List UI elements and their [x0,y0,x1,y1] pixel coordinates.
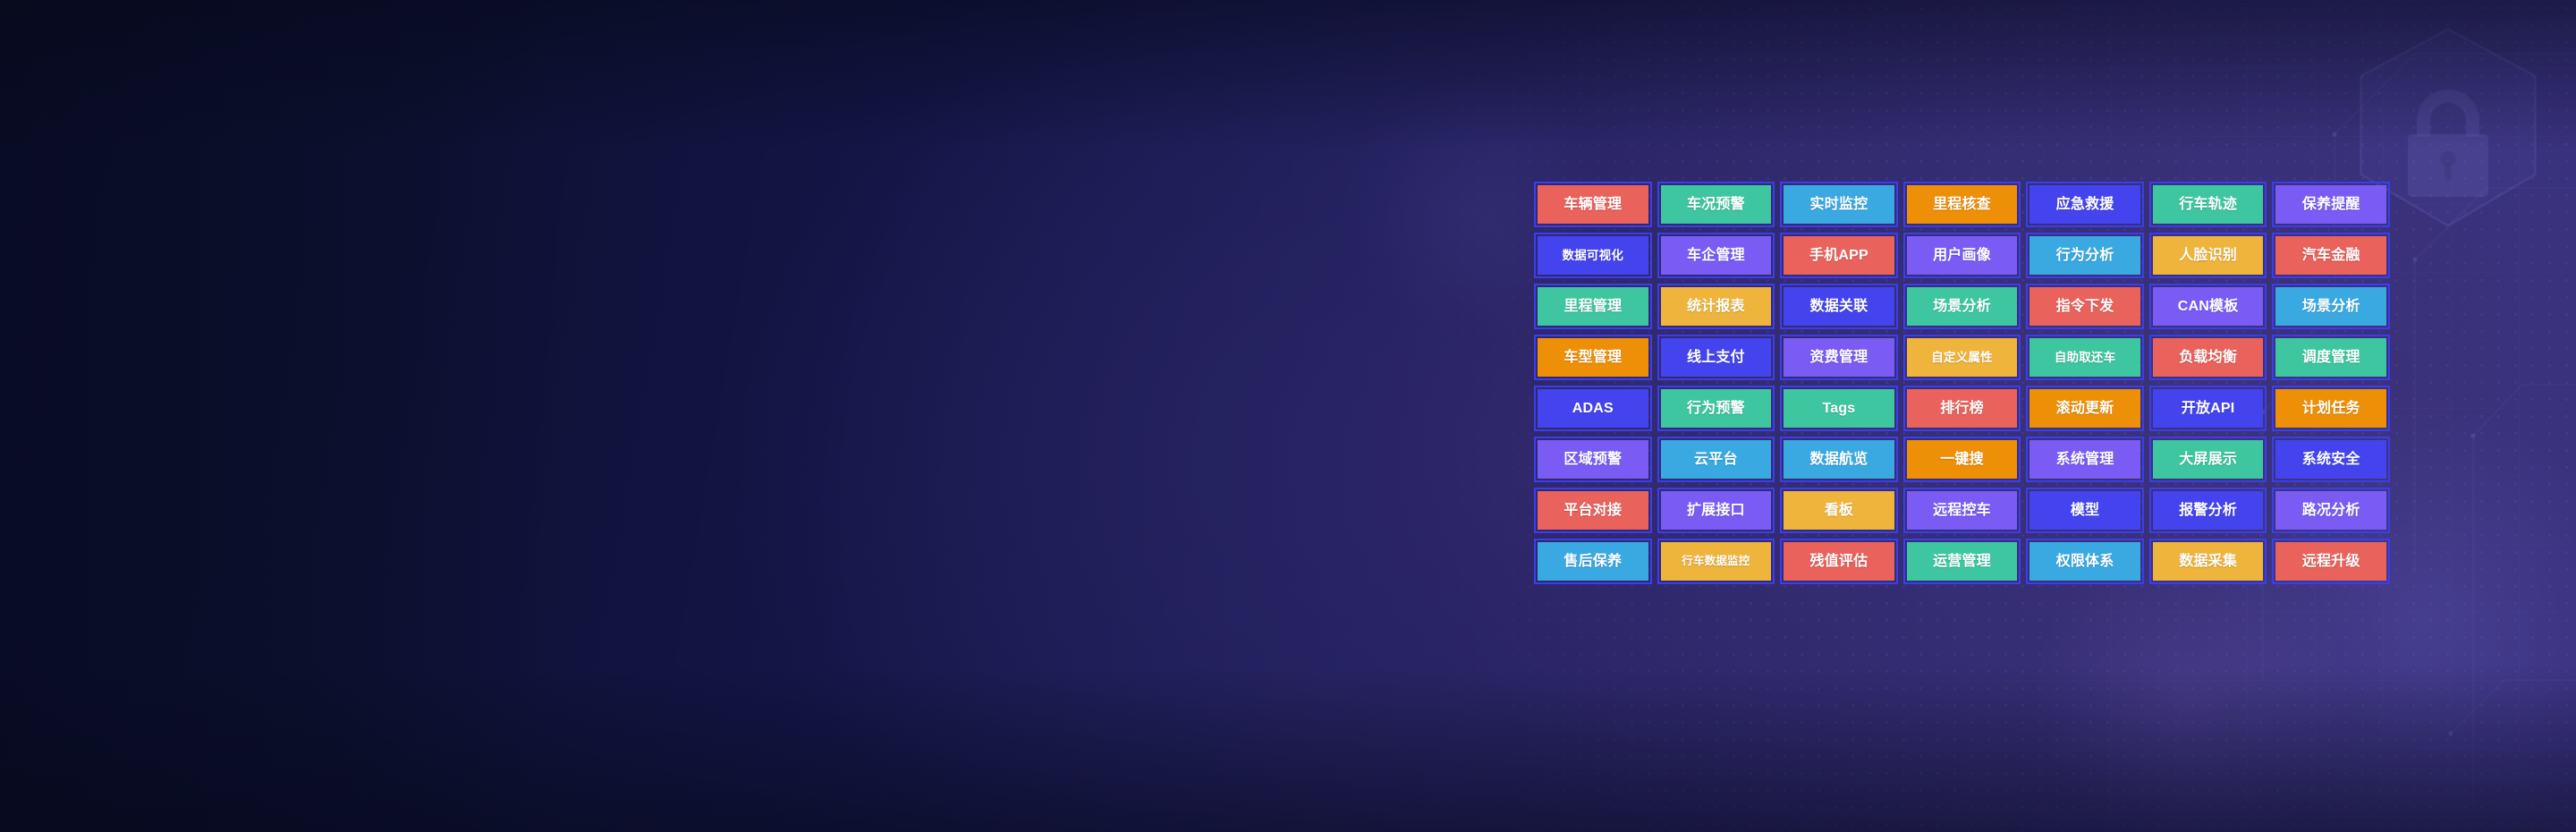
feature-tile[interactable]: 残值评估 [1780,539,1898,584]
feature-tile-label: 排行榜 [1907,389,2018,428]
feature-tile[interactable]: 统计报表 [1657,284,1775,329]
feature-tile[interactable]: 场景分析 [2272,284,2390,329]
feature-tile[interactable]: 系统管理 [2026,437,2144,482]
feature-tile-label: 统计报表 [1661,287,1772,326]
feature-tile[interactable]: 模型 [2026,488,2144,533]
feature-tile[interactable]: 用户画像 [1903,233,2021,278]
feature-tile[interactable]: 里程管理 [1534,284,1652,329]
screenshot-canvas: 车辆管理车况预警实时监控里程核查应急救援行车轨迹保养提醒数据可视化车企管理手机A… [0,0,2576,832]
feature-tile-label: 场景分析 [1907,287,2018,326]
feature-tile-label: 报警分析 [2153,491,2264,530]
feature-tile-label: 手机APP [1784,236,1894,275]
feature-tile[interactable]: 一键搜 [1903,437,2021,482]
feature-tile-label: 系统安全 [2275,440,2386,479]
feature-tile-label: 自定义属性 [1907,338,2018,377]
feature-tile[interactable]: 资费管理 [1780,335,1898,380]
feature-tile[interactable]: 区域预警 [1534,437,1652,482]
feature-tile[interactable]: 数据采集 [2149,539,2267,584]
feature-tile-label: 数据航览 [1784,440,1894,479]
feature-tile[interactable]: 行为分析 [2026,233,2144,278]
feature-tile-label: 系统管理 [2029,440,2140,479]
feature-tile[interactable]: CAN模板 [2149,284,2267,329]
feature-tile-label: 用户画像 [1907,236,2018,275]
feature-tile[interactable]: 场景分析 [1903,284,2021,329]
feature-tile[interactable]: 线上支付 [1657,335,1775,380]
feature-tile[interactable]: 调度管理 [2272,335,2390,380]
feature-tile[interactable]: 车况预警 [1657,182,1775,227]
feature-tile-label: 资费管理 [1784,338,1894,377]
feature-tile-label: 运营管理 [1907,542,2018,581]
feature-tile[interactable]: 手机APP [1780,233,1898,278]
feature-tile[interactable]: 计划任务 [2272,386,2390,431]
feature-tile[interactable]: 应急救援 [2026,182,2144,227]
feature-tile-label: 一键搜 [1907,440,2018,479]
feature-tile[interactable]: 行车数据监控 [1657,539,1775,584]
feature-tile-label: 开放API [2153,389,2264,428]
feature-tile-label: 计划任务 [2275,389,2386,428]
feature-tile-label: 远程控车 [1907,491,2018,530]
feature-tile-label: 数据关联 [1784,287,1894,326]
feature-tile[interactable]: 指令下发 [2026,284,2144,329]
feature-tile[interactable]: 路况分析 [2272,488,2390,533]
feature-tile[interactable]: 看板 [1780,488,1898,533]
feature-tile-label: 指令下发 [2029,287,2140,326]
feature-tile[interactable]: 负载均衡 [2149,335,2267,380]
feature-tile[interactable]: 扩展接口 [1657,488,1775,533]
feature-tile-label: 路况分析 [2275,491,2386,530]
feature-tile-label: Tags [1784,389,1894,428]
feature-tile[interactable]: 人脸识别 [2149,233,2267,278]
feature-tile[interactable]: 数据航览 [1780,437,1898,482]
feature-tile-label: 滚动更新 [2029,389,2140,428]
feature-tile-label: 人脸识别 [2153,236,2264,275]
feature-tile-label: 大屏展示 [2153,440,2264,479]
feature-tile[interactable]: 云平台 [1657,437,1775,482]
feature-tile[interactable]: 车辆管理 [1534,182,1652,227]
feature-tile-label: 场景分析 [2275,287,2386,326]
feature-tile[interactable]: ADAS [1534,386,1652,431]
feature-tile[interactable]: 行车轨迹 [2149,182,2267,227]
feature-tile[interactable]: 实时监控 [1780,182,1898,227]
feature-tile[interactable]: 里程核查 [1903,182,2021,227]
feature-tile-grid: 车辆管理车况预警实时监控里程核查应急救援行车轨迹保养提醒数据可视化车企管理手机A… [1534,182,2390,584]
feature-tile-label: 保养提醒 [2275,185,2386,224]
feature-tile[interactable]: 保养提醒 [2272,182,2390,227]
feature-tile[interactable]: 汽车金融 [2272,233,2390,278]
feature-tile-label: 行车数据监控 [1661,542,1772,581]
feature-tile-label: 行为分析 [2029,236,2140,275]
feature-tile[interactable]: 车企管理 [1657,233,1775,278]
feature-tile[interactable]: 运营管理 [1903,539,2021,584]
feature-tile[interactable]: 系统安全 [2272,437,2390,482]
feature-tile[interactable]: 车型管理 [1534,335,1652,380]
feature-tile-label: 远程升级 [2275,542,2386,581]
feature-tile-label: 数据可视化 [1538,236,1648,275]
feature-tile-label: 平台对接 [1538,491,1648,530]
feature-tile-label: 云平台 [1661,440,1772,479]
feature-tile[interactable]: 平台对接 [1534,488,1652,533]
feature-tile-label: 负载均衡 [2153,338,2264,377]
feature-tile[interactable]: 售后保养 [1534,539,1652,584]
feature-tile[interactable]: 排行榜 [1903,386,2021,431]
feature-tile[interactable]: 远程升级 [2272,539,2390,584]
feature-tile-label: ADAS [1538,389,1648,428]
feature-tile-label: 调度管理 [2275,338,2386,377]
feature-tile[interactable]: 自助取还车 [2026,335,2144,380]
feature-tile[interactable]: 滚动更新 [2026,386,2144,431]
feature-tile-label: 看板 [1784,491,1894,530]
feature-tile-label: 扩展接口 [1661,491,1772,530]
feature-tile-label: 自助取还车 [2029,338,2140,377]
feature-tile[interactable]: 远程控车 [1903,488,2021,533]
feature-tile[interactable]: 行为预警 [1657,386,1775,431]
feature-tile-label: CAN模板 [2153,287,2264,326]
feature-tile-label: 车况预警 [1661,185,1772,224]
feature-tile-label: 行车轨迹 [2153,185,2264,224]
feature-tile[interactable]: Tags [1780,386,1898,431]
feature-tile-label: 权限体系 [2029,542,2140,581]
feature-tile-label: 模型 [2029,491,2140,530]
feature-tile-label: 应急救援 [2029,185,2140,224]
feature-tile[interactable]: 大屏展示 [2149,437,2267,482]
feature-tile[interactable]: 数据关联 [1780,284,1898,329]
feature-tile[interactable]: 开放API [2149,386,2267,431]
feature-tile-label: 车型管理 [1538,338,1648,377]
feature-tile-label: 行为预警 [1661,389,1772,428]
feature-tile-label: 里程核查 [1907,185,2018,224]
feature-tile-label: 数据采集 [2153,542,2264,581]
feature-tile-label: 售后保养 [1538,542,1648,581]
feature-tile[interactable]: 自定义属性 [1903,335,2021,380]
feature-tile-label: 汽车金融 [2275,236,2386,275]
feature-tile-label: 实时监控 [1784,185,1894,224]
feature-tile-label: 线上支付 [1661,338,1772,377]
feature-tile[interactable]: 数据可视化 [1534,233,1652,278]
feature-tile[interactable]: 报警分析 [2149,488,2267,533]
feature-tile-label: 里程管理 [1538,287,1648,326]
feature-tile[interactable]: 权限体系 [2026,539,2144,584]
feature-tile-label: 区域预警 [1538,440,1648,479]
feature-tile-label: 残值评估 [1784,542,1894,581]
feature-tile-label: 车辆管理 [1538,185,1648,224]
feature-tile-label: 车企管理 [1661,236,1772,275]
